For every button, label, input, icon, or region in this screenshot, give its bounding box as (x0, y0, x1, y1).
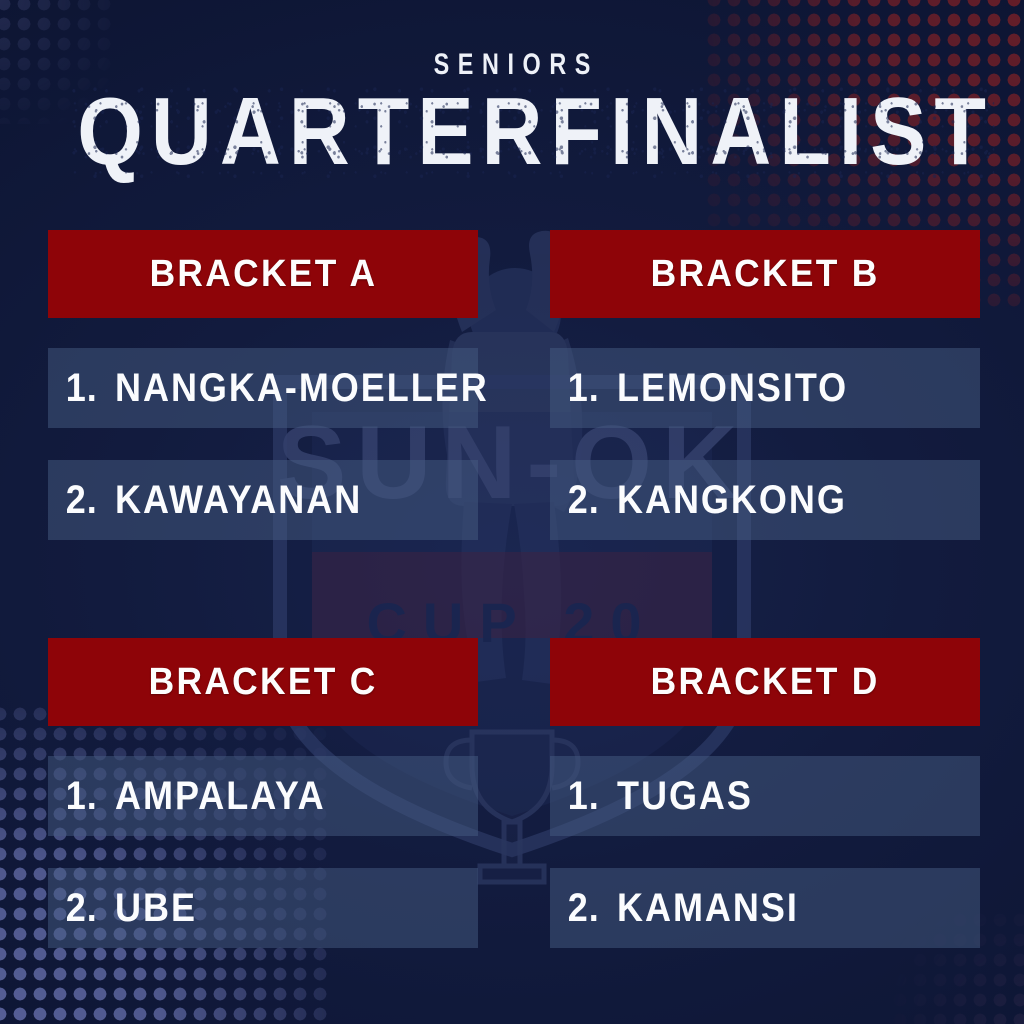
team-name: UBE (115, 886, 197, 931)
bracket-a-header-label: BRACKET A (149, 253, 377, 296)
team-rank: 1. (66, 774, 98, 819)
bracket-b: BRACKET B 1. LEMONSITO 2. KANGKONG (550, 230, 980, 540)
bracket-c: BRACKET C 1. AMPALAYA 2. UBE (48, 638, 478, 948)
bracket-d-header: BRACKET D (550, 638, 980, 726)
bracket-a-header: BRACKET A (48, 230, 478, 318)
team-rank: 2. (568, 478, 600, 523)
team-name: AMPALAYA (115, 774, 326, 819)
team-name: NANGKA-MOELLER (115, 366, 489, 411)
bracket-c-header: BRACKET C (48, 638, 478, 726)
eyebrow-seniors: SENIORS (113, 48, 912, 82)
team-row: 1. LEMONSITO (550, 348, 980, 428)
team-row: 2. KAMANSI (550, 868, 980, 948)
team-rank: 1. (66, 366, 98, 411)
team-row: 2. KANGKONG (550, 460, 980, 540)
team-rank: 2. (568, 886, 600, 931)
team-name: KANGKONG (617, 478, 847, 523)
brackets-grid: BRACKET A 1. NANGKA-MOELLER 2. KAWAYANAN… (48, 230, 984, 948)
team-name: KAWAYANAN (115, 478, 362, 523)
team-row: 1. AMPALAYA (48, 756, 478, 836)
team-row: 1. NANGKA-MOELLER (48, 348, 478, 428)
bracket-b-header-label: BRACKET B (650, 253, 879, 296)
quarterfinalist-poster: SUN-OK CUP 20 SENIORS QUARTERFINALIST BR… (0, 0, 1024, 1024)
team-row: 2. UBE (48, 868, 478, 948)
team-name: LEMONSITO (617, 366, 848, 411)
team-rank: 1. (568, 366, 600, 411)
team-rank: 2. (66, 886, 98, 931)
team-row: 1. TUGAS (550, 756, 980, 836)
bracket-a: BRACKET A 1. NANGKA-MOELLER 2. KAWAYANAN (48, 230, 478, 540)
bracket-d: BRACKET D 1. TUGAS 2. KAMANSI (550, 638, 980, 948)
team-rank: 1. (568, 774, 600, 819)
bracket-c-header-label: BRACKET C (148, 661, 377, 704)
team-row: 2. KAWAYANAN (48, 460, 478, 540)
page-title-text: QUARTERFINALIST (69, 84, 994, 180)
bracket-b-header: BRACKET B (550, 230, 980, 318)
team-name: TUGAS (617, 774, 753, 819)
team-name: KAMANSI (617, 886, 799, 931)
bracket-d-header-label: BRACKET D (650, 661, 879, 704)
page-title: QUARTERFINALIST (61, 84, 962, 180)
team-rank: 2. (66, 478, 98, 523)
